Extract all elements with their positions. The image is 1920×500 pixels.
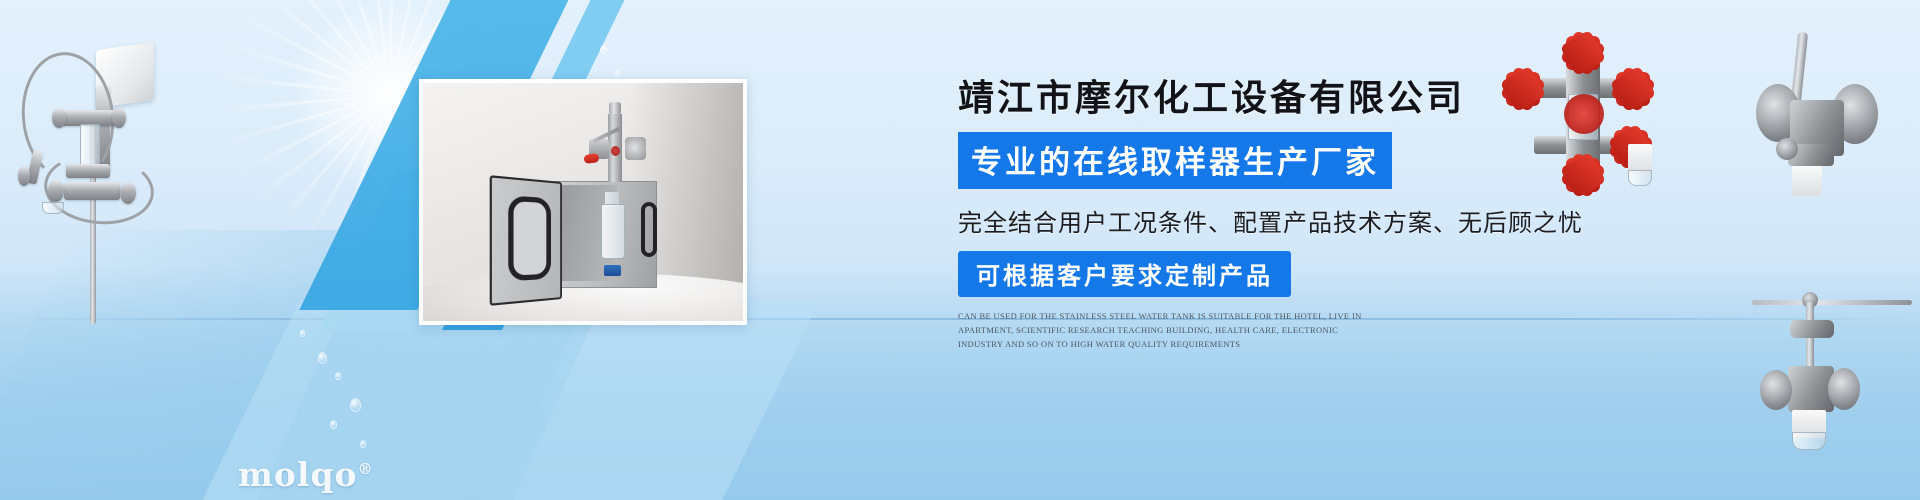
cabinet-side-handle: [641, 202, 657, 257]
valve-flange-right: [625, 137, 646, 159]
sample-bottle: [601, 204, 625, 259]
blue-cap: [604, 265, 622, 276]
water-droplet: [330, 420, 337, 429]
water-droplet: [360, 440, 366, 448]
photo-content: [423, 83, 743, 321]
side-flange: [18, 166, 30, 186]
hero-banner: 靖江市摩尔化工设备有限公司 专业的在线取样器生产厂家 完全结合用户工况条件、配置…: [0, 0, 1920, 500]
water-droplet: [350, 398, 361, 412]
banner-text-block: 靖江市摩尔化工设备有限公司 专业的在线取样器生产厂家 完全结合用户工况条件、配置…: [958, 78, 1738, 352]
brand-watermark-text: molqo: [238, 455, 358, 494]
custom-product-badge: 可根据客户要求定制产品: [958, 251, 1291, 297]
secondary-slogan: 完全结合用户工况条件、配置产品技术方案、无后顾之忧: [958, 203, 1738, 238]
water-droplet: [318, 352, 327, 364]
right-product-lever-valve: [1748, 26, 1918, 216]
collection-jar: [42, 202, 64, 214]
handwheel-top: [1566, 36, 1600, 70]
product-logo-badge: [611, 146, 620, 156]
right-product-handwheel-valve: [1766, 280, 1916, 460]
valve-cross-handle: [1752, 300, 1912, 305]
registered-mark-icon: ®: [358, 460, 374, 478]
valve-port-left: [1760, 370, 1792, 410]
bottom-valve-knob-right: [120, 182, 136, 204]
bottom-valve-knob-left: [48, 180, 64, 202]
english-description: Can be used for the stainless steel wate…: [958, 310, 1378, 351]
upper-valve-knob-left: [52, 108, 66, 128]
valve-collection-jar: [1792, 432, 1826, 450]
bottom-valve-body: [64, 182, 120, 200]
top-mounted-valve-assembly: [580, 102, 650, 185]
valve-side-cap: [1776, 138, 1798, 160]
water-droplet: [335, 372, 341, 380]
lower-valve-block: [66, 164, 110, 178]
red-lever-grip: [583, 153, 600, 164]
left-product-sampler-rig: [8, 24, 178, 314]
water-droplet: [300, 330, 305, 337]
water-droplet: [615, 70, 620, 76]
primary-slogan-badge: 专业的在线取样器生产厂家: [958, 132, 1392, 189]
brand-watermark: molqo®: [238, 455, 374, 494]
cabinet-door: [490, 175, 562, 305]
upper-valve-knob-right: [112, 108, 126, 128]
valve-port-right: [1828, 368, 1860, 410]
water-droplet: [600, 45, 607, 54]
valve-bonnet: [1790, 320, 1834, 338]
center-product-photo: [419, 79, 747, 325]
company-title: 靖江市摩尔化工设备有限公司: [958, 78, 1738, 118]
valve-sample-cup: [1792, 166, 1822, 196]
